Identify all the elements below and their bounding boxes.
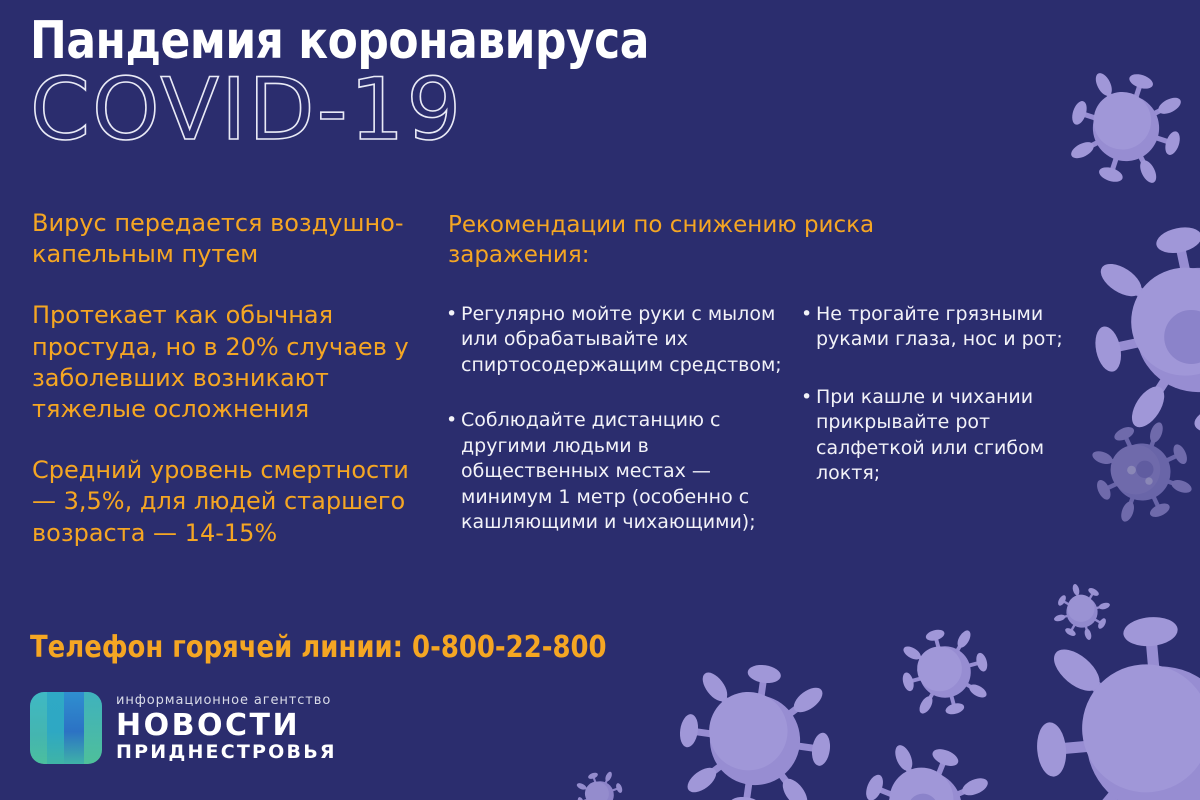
recommendations-column-left: Регулярно мойте руки с мылом или обрабат… <box>446 302 801 566</box>
recommendation-item: При кашле и чихании прикрывайте рот салф… <box>801 385 1101 487</box>
recommendation-item: Соблюдайте дистанцию с другими людьми в … <box>446 408 801 535</box>
recommendation-item: Не трогайте грязными руками глаза, нос и… <box>801 302 1101 353</box>
agency-name: НОВОСТИ <box>116 711 337 741</box>
recommendations-heading: Рекомендации по снижению риска заражения… <box>448 210 968 271</box>
recommendations-column-right: Не трогайте грязными руками глаза, нос и… <box>801 302 1101 566</box>
subtitle-wrap: COVID-19 <box>30 67 890 149</box>
hotline-text: Телефон горячей линии: 0-800-22-800 <box>30 630 607 665</box>
facts-list: Вирус передается воздушно-капельным путе… <box>32 208 432 549</box>
recommendations-columns: Регулярно мойте руки с мылом или обрабат… <box>446 302 1166 566</box>
agency-tagline: информационное агентство <box>116 694 337 707</box>
news-agency-logo-mark-icon <box>30 692 102 764</box>
fact-item: Протекает как обычная простуда, но в 20%… <box>32 300 432 425</box>
fact-item: Средний уровень смертности — 3,5%, для л… <box>32 455 432 549</box>
agency-logo-text: информационное агентство НОВОСТИ ПРИДНЕС… <box>116 694 337 762</box>
agency-logo: информационное агентство НОВОСТИ ПРИДНЕС… <box>30 692 337 764</box>
fact-item: Вирус передается воздушно-капельным путе… <box>32 208 432 270</box>
page-title: Пандемия коронавируса <box>30 14 838 69</box>
poster-header: Пандемия коронавируса COVID-19 <box>30 14 890 149</box>
covid-infographic-poster: Пандемия коронавируса COVID-19 Вирус пер… <box>0 0 1200 800</box>
recommendation-item: Регулярно мойте руки с мылом или обрабат… <box>446 302 801 378</box>
page-subtitle: COVID-19 <box>30 67 463 157</box>
agency-region: ПРИДНЕСТРОВЬЯ <box>116 743 337 762</box>
